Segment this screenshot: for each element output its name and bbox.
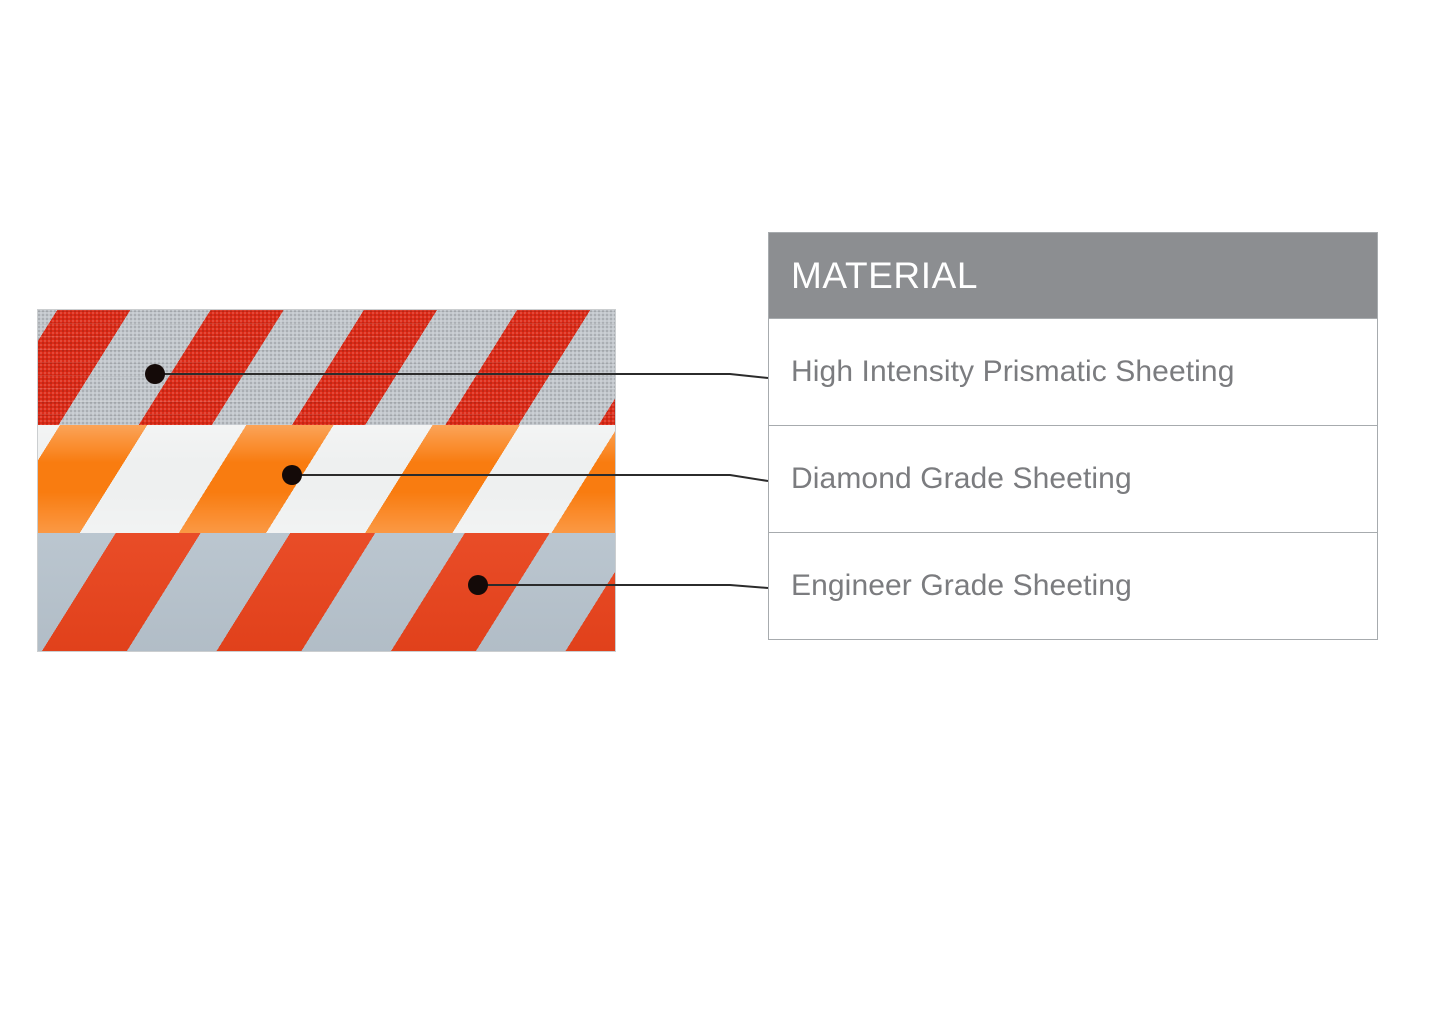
table-row[interactable]: Diamond Grade Sheeting <box>769 425 1377 532</box>
material-table-header-label: MATERIAL <box>791 257 978 294</box>
table-row[interactable]: High Intensity Prismatic Sheeting <box>769 318 1377 425</box>
sample-band-engineer-grade <box>38 533 615 651</box>
sample-band-high-intensity-prismatic <box>38 310 615 425</box>
sheeting-sample-photo <box>38 310 615 651</box>
material-row-label-diamond-grade: Diamond Grade Sheeting <box>791 464 1132 494</box>
diagonal-stripes-diamond-grade <box>38 425 615 533</box>
diagonal-stripes-high-intensity <box>38 310 615 425</box>
material-row-label-engineer-grade: Engineer Grade Sheeting <box>791 571 1132 601</box>
material-table-header: MATERIAL <box>769 233 1377 318</box>
diagonal-stripes-engineer-grade <box>38 533 615 651</box>
sample-band-diamond-grade <box>38 425 615 533</box>
material-row-label-high-intensity-prismatic: High Intensity Prismatic Sheeting <box>791 357 1235 387</box>
material-legend-table: MATERIAL High Intensity Prismatic Sheeti… <box>768 232 1378 640</box>
table-row[interactable]: Engineer Grade Sheeting <box>769 532 1377 639</box>
